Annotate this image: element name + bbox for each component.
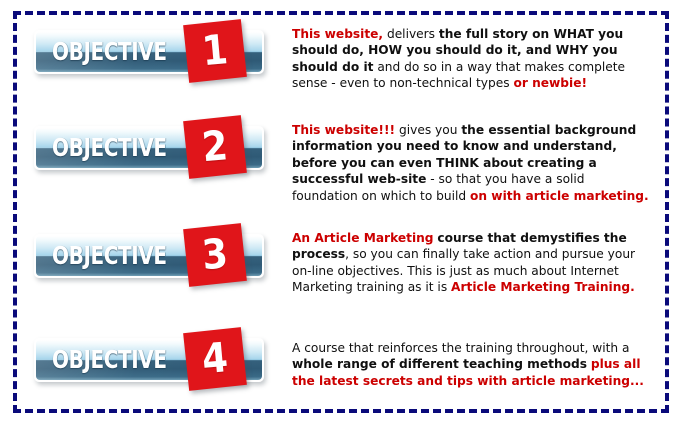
badge-number-value: 3 bbox=[200, 234, 229, 277]
badge-label: OBJECTIVE bbox=[52, 243, 167, 268]
objective-badge: OBJECTIVE 3 bbox=[34, 226, 282, 288]
badge-number-tile: 4 bbox=[183, 327, 247, 391]
objective-description: An Article Marketing course that demysti… bbox=[292, 226, 652, 296]
badge-number-value: 1 bbox=[200, 30, 229, 73]
objective-description: This website, delivers the full story on… bbox=[292, 22, 652, 92]
objective-row: OBJECTIVE 2 This website!!! gives you th… bbox=[0, 118, 682, 214]
objective-badge: OBJECTIVE 4 bbox=[34, 330, 282, 392]
objective-description: This website!!! gives you the essential … bbox=[292, 118, 652, 204]
objective-row: OBJECTIVE 3 An Article Marketing course … bbox=[0, 226, 682, 322]
badge-number-tile: 3 bbox=[183, 223, 247, 287]
badge-number-tile: 2 bbox=[183, 115, 247, 179]
objective-row: OBJECTIVE 4 A course that reinforces the… bbox=[0, 330, 682, 426]
objectives-page: OBJECTIVE 1 This website, delivers the f… bbox=[0, 0, 682, 426]
badge-label: OBJECTIVE bbox=[52, 135, 167, 160]
badge-number-value: 4 bbox=[200, 338, 229, 381]
badge-label: OBJECTIVE bbox=[52, 39, 167, 64]
objective-description: A course that reinforces the training th… bbox=[292, 330, 652, 389]
objective-badge: OBJECTIVE 1 bbox=[34, 22, 282, 84]
objective-row: OBJECTIVE 1 This website, delivers the f… bbox=[0, 22, 682, 118]
badge-label: OBJECTIVE bbox=[52, 347, 167, 372]
badge-number-value: 2 bbox=[200, 126, 229, 169]
badge-number-tile: 1 bbox=[183, 19, 247, 83]
objective-badge: OBJECTIVE 2 bbox=[34, 118, 282, 180]
